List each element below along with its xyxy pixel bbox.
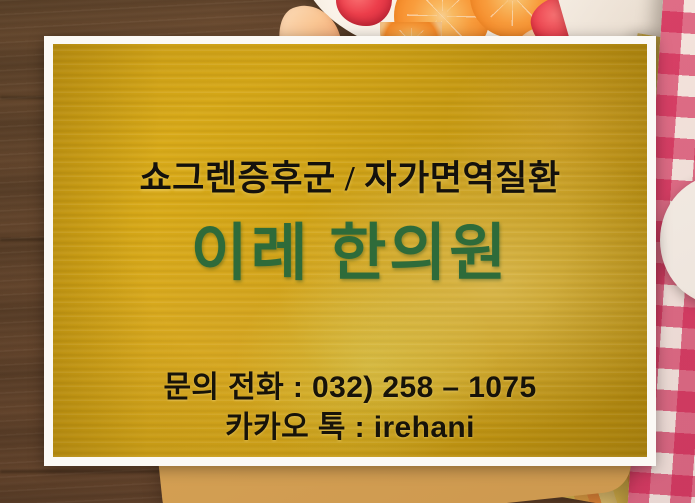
- gold-card-surface: 쇼그렌증후군 / 자가면역질환 이레 한의원 문의 전화 : 032) 258 …: [53, 44, 647, 457]
- kakao-line: 카카오 톡 : irehani: [53, 408, 647, 448]
- phone-line: 문의 전화 : 032) 258 – 1075: [53, 368, 647, 408]
- banner-image: 쇼그렌증후군 / 자가면역질환 이레 한의원 문의 전화 : 032) 258 …: [0, 0, 695, 503]
- contact-info: 문의 전화 : 032) 258 – 1075 카카오 톡 : irehani: [53, 368, 647, 448]
- card-text-block: 쇼그렌증후군 / 자가면역질환 이레 한의원 문의 전화 : 032) 258 …: [53, 44, 647, 457]
- clinic-name-title: 이레 한의원: [53, 202, 647, 292]
- gold-card-frame: 쇼그렌증후군 / 자가면역질환 이레 한의원 문의 전화 : 032) 258 …: [44, 36, 656, 466]
- condition-subtitle: 쇼그렌증후군 / 자가면역질환: [53, 150, 647, 201]
